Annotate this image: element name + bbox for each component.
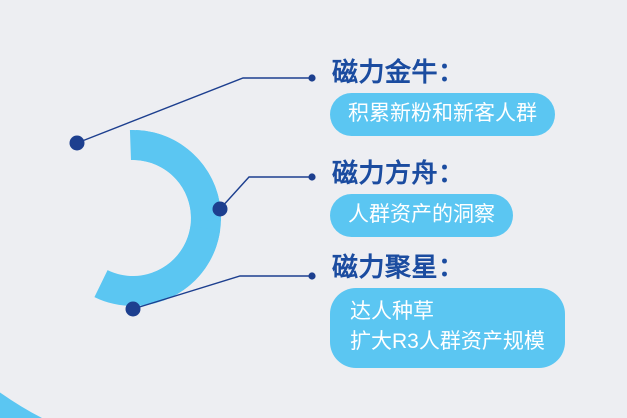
callout-pill-3-line-1: 达人种草 (350, 297, 545, 327)
callout-title-1: 磁力金牛： (332, 55, 555, 89)
callout-pill-3-line-2: 扩大R3人群资产规模 (350, 327, 545, 357)
ring-marker-3[interactable] (126, 302, 141, 317)
leader-end-dot-2 (308, 173, 315, 180)
callout-pill-2-line-1: 人群资产的洞察 (348, 200, 495, 230)
callout-pill-1-line-1: 积累新粉和新客人群 (348, 99, 537, 129)
donut-ring (94, 130, 221, 306)
leader-line-2 (220, 177, 312, 209)
leader-line-1 (77, 78, 312, 143)
callout-pill-1[interactable]: 积累新粉和新客人群 (330, 93, 555, 136)
leader-end-dot-1 (308, 74, 315, 81)
callout-magnetic-star: 磁力聚星： 达人种草 扩大R3人群资产规模 (330, 250, 565, 368)
callout-pill-3[interactable]: 达人种草 扩大R3人群资产规模 (330, 288, 565, 368)
callout-magnetic-cattle: 磁力金牛： 积累新粉和新客人群 (330, 55, 555, 136)
callout-magnetic-ark: 磁力方舟： 人群资产的洞察 (330, 156, 513, 237)
leader-end-dots (308, 74, 315, 279)
callout-pill-2[interactable]: 人群资产的洞察 (330, 194, 513, 237)
ring-marker-1[interactable] (70, 136, 85, 151)
infographic-canvas: 磁力金牛： 积累新粉和新客人群 磁力方舟： 人群资产的洞察 磁力聚星： 达人种草… (0, 0, 627, 418)
donut-segment-magnetic-star[interactable] (94, 226, 220, 306)
donut-segment-magnetic-ark[interactable] (135, 130, 221, 221)
ring-marker-2[interactable] (213, 202, 228, 217)
callout-title-3: 磁力聚星： (332, 250, 565, 284)
corner-swoosh-decoration (0, 370, 42, 418)
leader-end-dot-3 (308, 272, 315, 279)
callout-title-2: 磁力方舟： (332, 156, 513, 190)
